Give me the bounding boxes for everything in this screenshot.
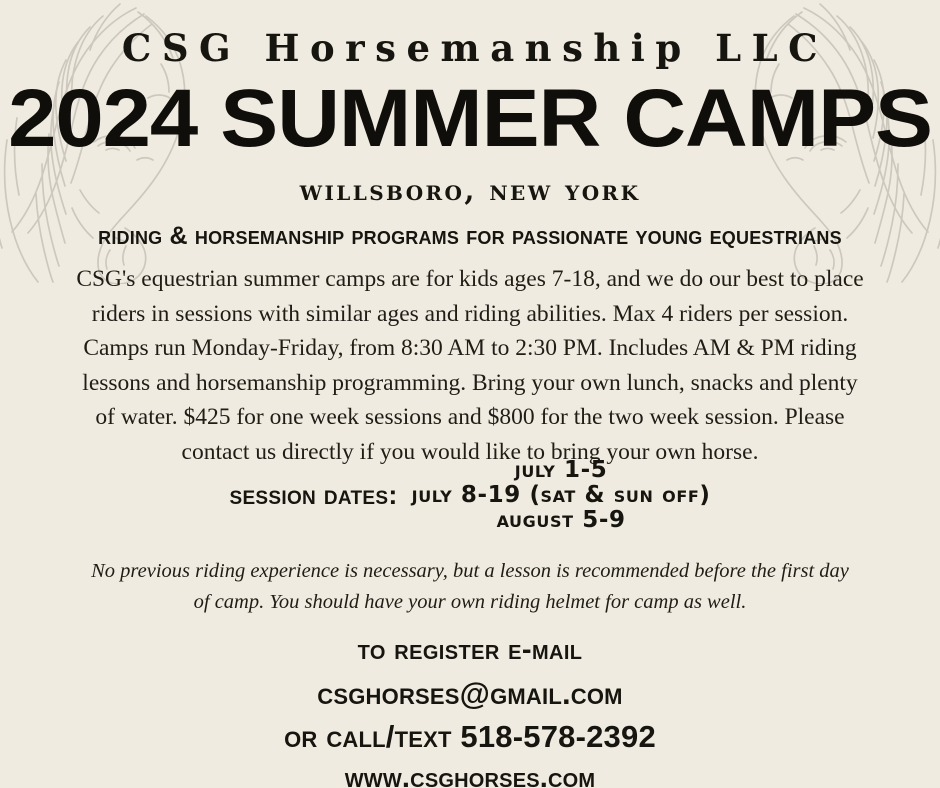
contact-phone[interactable]: or call/text 518-578-2392 [0,721,940,752]
location-line: Willsboro, New York [0,176,940,205]
session-date-item: July 8-19 (Sat & Sun off) [412,483,711,508]
tagline: Riding & Horsemanship programs for passi… [0,224,940,249]
session-date-item: July 1-5 [412,458,711,483]
session-dates-label: Session Dates: [229,480,397,511]
contact-block: To register e-mail CSGhorses@gmail.com o… [0,636,940,788]
register-instruction: To register e-mail [0,636,940,665]
poster-canvas: CSG Horsemanship LLC 2024 SUMMER CAMPS W… [0,0,940,788]
description-paragraph: CSG's equestrian summer camps are for ki… [76,262,864,469]
contact-email[interactable]: CSGhorses@gmail.com [0,678,940,709]
contact-website[interactable]: www.CSGhorses.com [0,764,940,788]
brand-name: CSG Horsemanship LLC [0,30,940,67]
session-dates-list: July 1-5 July 8-19 (Sat & Sun off) Augus… [412,458,711,533]
session-date-item: August 5-9 [412,508,711,533]
session-dates-block: Session Dates: July 1-5 July 8-19 (Sat &… [0,458,940,533]
experience-note: No previous riding experience is necessa… [86,556,854,618]
page-title: 2024 SUMMER CAMPS [0,78,940,160]
